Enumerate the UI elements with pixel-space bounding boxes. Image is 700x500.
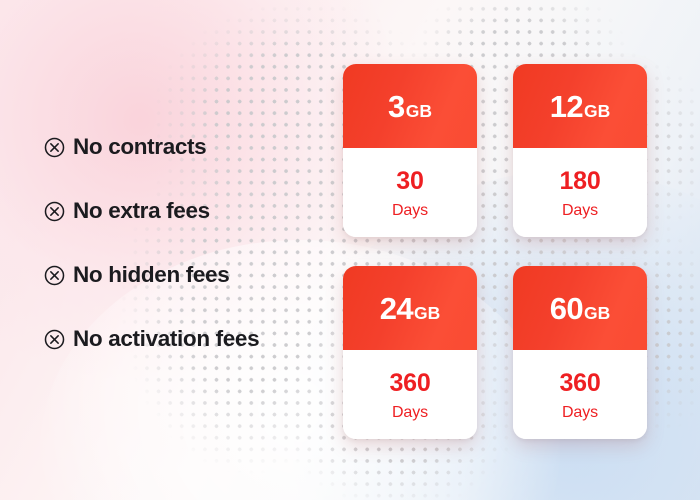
plan-days-number: 360 <box>389 371 430 396</box>
benefit-item-no-hidden-fees: No hidden fees <box>44 259 344 291</box>
benefit-label: No contracts <box>73 136 206 159</box>
plan-data-value: 60 <box>550 293 583 324</box>
benefit-item-no-contracts: No contracts <box>44 131 344 163</box>
plan-data-value: 24 <box>380 293 413 324</box>
plan-days-number: 30 <box>396 169 423 194</box>
plan-card-validity: 180 Days <box>513 148 647 237</box>
benefit-label: No activation fees <box>73 328 259 351</box>
plan-card-validity: 360 Days <box>513 350 647 439</box>
plan-card-data-header: 60GB <box>513 266 647 350</box>
benefits-list: No contracts No extra fees No hidden fee… <box>44 131 344 355</box>
plan-data-value: 3 <box>388 91 405 122</box>
plan-days-number: 180 <box>559 169 600 194</box>
benefit-label: No extra fees <box>73 200 210 223</box>
plan-data-unit: GB <box>406 103 432 121</box>
circle-x-icon <box>44 329 65 350</box>
plan-data-unit: GB <box>584 305 610 323</box>
plan-card[interactable]: 24GB 360 Days <box>343 266 477 439</box>
circle-x-icon <box>44 201 65 222</box>
plan-data-amount: 60GB <box>550 293 611 324</box>
benefit-label: No hidden fees <box>73 264 229 287</box>
circle-x-icon <box>44 265 65 286</box>
plan-data-amount: 24GB <box>380 293 441 324</box>
plan-card-data-header: 24GB <box>343 266 477 350</box>
plan-data-amount: 3GB <box>388 91 432 122</box>
plan-days-label: Days <box>562 405 598 421</box>
plan-data-amount: 12GB <box>550 91 611 122</box>
plan-data-value: 12 <box>550 91 583 122</box>
promo-banner: No contracts No extra fees No hidden fee… <box>0 0 700 500</box>
plan-card[interactable]: 3GB 30 Days <box>343 64 477 237</box>
plan-days-label: Days <box>562 203 598 219</box>
plan-card-data-header: 12GB <box>513 64 647 148</box>
plan-card[interactable]: 12GB 180 Days <box>513 64 647 237</box>
plan-data-unit: GB <box>584 103 610 121</box>
plan-data-unit: GB <box>414 305 440 323</box>
benefit-item-no-activation-fees: No activation fees <box>44 323 344 355</box>
plan-card-data-header: 3GB <box>343 64 477 148</box>
benefit-item-no-extra-fees: No extra fees <box>44 195 344 227</box>
plan-card-validity: 360 Days <box>343 350 477 439</box>
plan-days-number: 360 <box>559 371 600 396</box>
plan-cards-grid: 3GB 30 Days 12GB 180 Days 24GB 360 Days <box>343 64 647 439</box>
circle-x-icon <box>44 137 65 158</box>
plan-card[interactable]: 60GB 360 Days <box>513 266 647 439</box>
plan-days-label: Days <box>392 405 428 421</box>
plan-card-validity: 30 Days <box>343 148 477 237</box>
plan-days-label: Days <box>392 203 428 219</box>
